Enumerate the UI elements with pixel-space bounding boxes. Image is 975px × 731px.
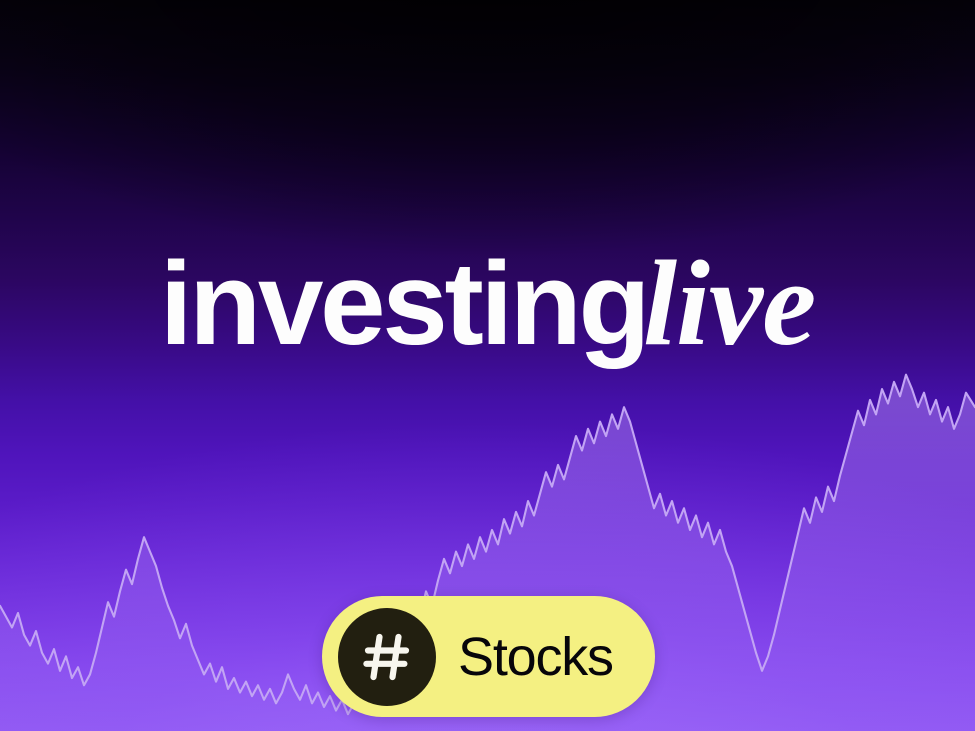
social-card: investinglive Stocks	[0, 0, 975, 731]
stocks-tag-label: Stocks	[458, 626, 613, 688]
stocks-tag-pill[interactable]: Stocks	[322, 596, 655, 717]
hash-icon	[360, 630, 414, 684]
brand-logo: investinglive	[0, 243, 975, 365]
hash-badge	[338, 608, 436, 706]
brand-name-secondary: live	[643, 236, 815, 371]
brand-name-primary: investing	[160, 238, 647, 370]
